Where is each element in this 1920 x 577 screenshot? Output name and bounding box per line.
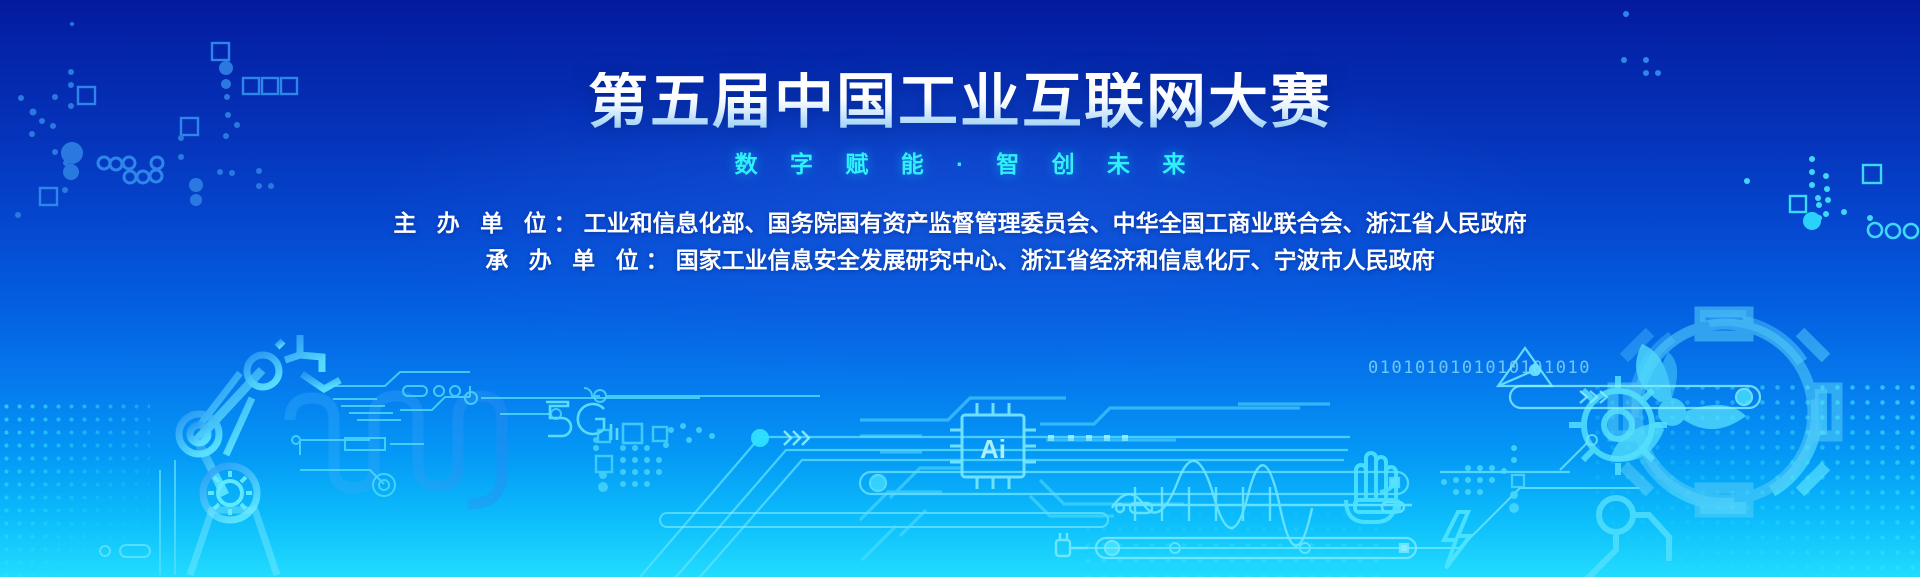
banner-title: 第五届中国工业互联网大赛 <box>0 72 1920 132</box>
organizer-body-host: 工业和信息化部、国务院国有资产监督管理委员会、中华全国工商业联合会、浙江省人民政… <box>584 210 1527 236</box>
organizer-block: 主 办 单 位：工业和信息化部、国务院国有资产监督管理委员会、中华全国工商业联合… <box>0 205 1920 279</box>
banner-subtitle: 数 字 赋 能 · 智 创 未 来 <box>0 145 1920 179</box>
organizer-label-cohost: 承 办 单 位： <box>485 247 675 273</box>
banner-content: 第五届中国工业互联网大赛 数 字 赋 能 · 智 创 未 来 主 办 单 位：工… <box>0 0 1920 577</box>
organizer-line-host: 主 办 单 位：工业和信息化部、国务院国有资产监督管理委员会、中华全国工商业联合… <box>0 205 1920 242</box>
organizer-body-cohost: 国家工业信息安全发展研究中心、浙江省经济和信息化厅、宁波市人民政府 <box>676 247 1435 273</box>
organizer-label-host: 主 办 单 位： <box>393 210 583 236</box>
organizer-line-cohost: 承 办 单 位：国家工业信息安全发展研究中心、浙江省经济和信息化厅、宁波市人民政… <box>0 242 1920 279</box>
event-banner: 0101010101010101010 Ai <box>0 0 1920 577</box>
